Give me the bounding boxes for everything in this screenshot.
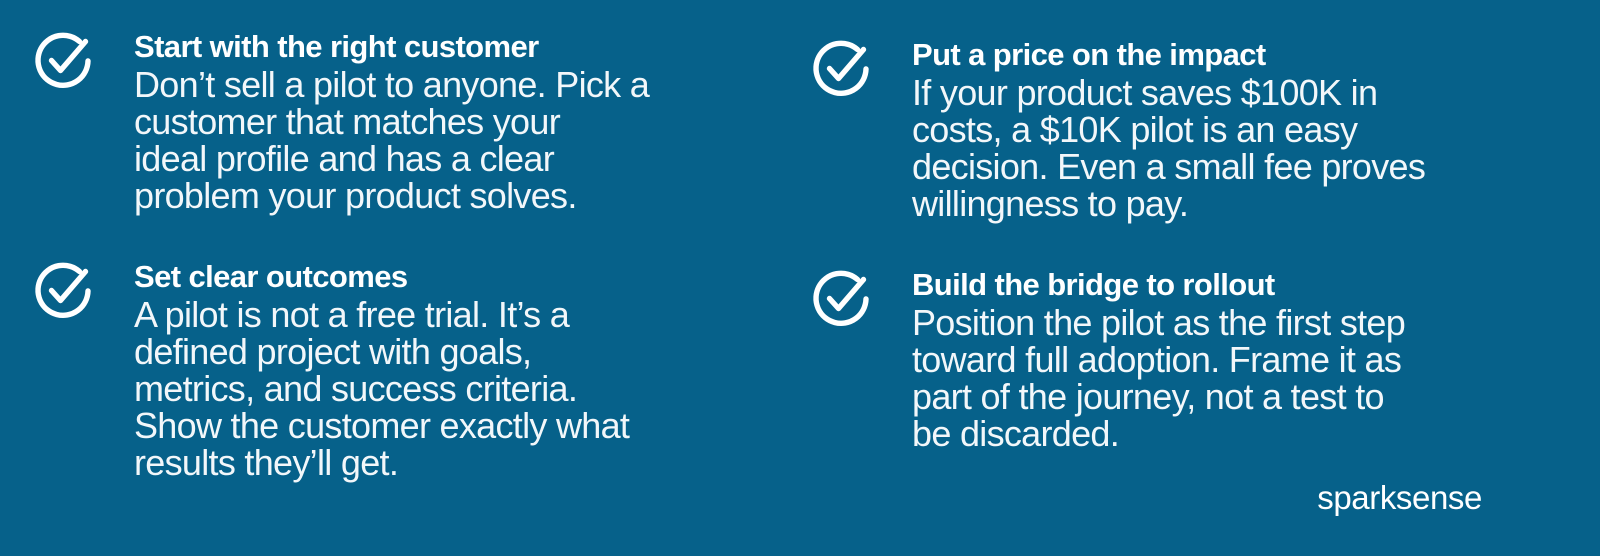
tip-text-block: Start with the right customer Don’t sell…: [134, 28, 734, 214]
circle-check-icon: [34, 260, 94, 320]
tip-text-block: Build the bridge to rollout Position the…: [912, 266, 1532, 452]
tip-text-block: Set clear outcomes A pilot is not a free…: [134, 258, 734, 481]
tip-card-build-the-bridge-to-rollout: Build the bridge to rollout Position the…: [812, 266, 1532, 452]
tip-body: Don’t sell a pilot to anyone. Pick a cus…: [134, 66, 734, 214]
tip-body: A pilot is not a free trial. It’s a defi…: [134, 296, 734, 481]
tip-heading: Build the bridge to rollout: [912, 266, 1532, 303]
tip-body: If your product saves $100K in costs, a …: [912, 74, 1532, 222]
tip-card-set-clear-outcomes: Set clear outcomes A pilot is not a free…: [34, 258, 734, 481]
tip-body: Position the pilot as the first step tow…: [912, 304, 1532, 452]
slide-canvas: Start with the right customer Don’t sell…: [0, 0, 1600, 556]
tip-heading: Set clear outcomes: [134, 258, 734, 295]
tip-heading: Start with the right customer: [134, 28, 734, 65]
tip-heading: Put a price on the impact: [912, 36, 1532, 73]
circle-check-icon: [34, 30, 94, 90]
circle-check-icon: [812, 38, 872, 98]
tip-card-start-with-the-right-customer: Start with the right customer Don’t sell…: [34, 28, 734, 214]
brand-wordmark: sparksense: [1317, 481, 1482, 514]
circle-check-icon: [812, 268, 872, 328]
tip-text-block: Put a price on the impact If your produc…: [912, 36, 1532, 222]
tip-card-put-a-price-on-the-impact: Put a price on the impact If your produc…: [812, 36, 1532, 222]
tips-grid: Start with the right customer Don’t sell…: [0, 0, 1600, 556]
